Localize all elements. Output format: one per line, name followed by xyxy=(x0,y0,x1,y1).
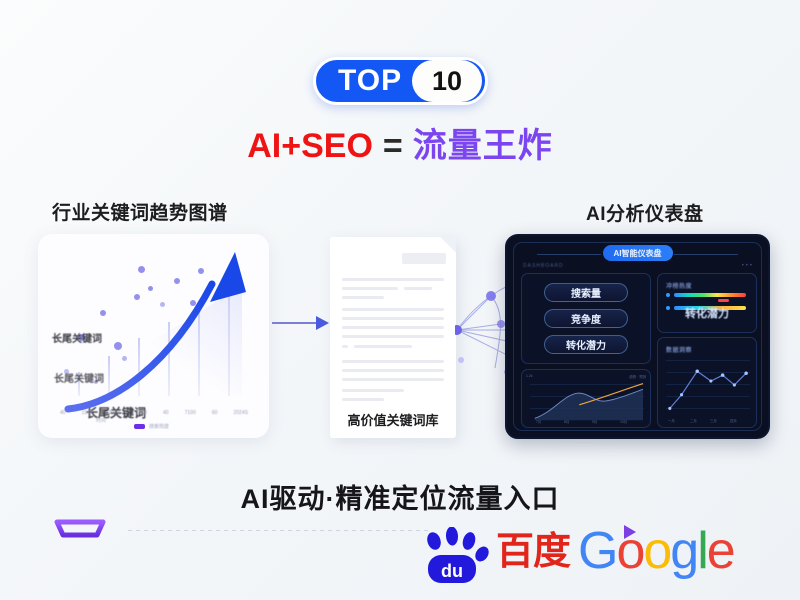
x-tick: 7100 xyxy=(185,410,196,416)
line-chart-svg xyxy=(658,338,756,427)
google-letter: G xyxy=(578,522,616,580)
chart-legend: 搜索热度 xyxy=(134,423,169,430)
divider-dashed-line xyxy=(128,530,428,531)
search-engine-logos: du 百度 Google xyxy=(418,519,748,581)
dashboard-title: AI智能仪表盘 xyxy=(603,245,673,261)
heat-panel-heading: 冲榜热度 xyxy=(666,281,692,290)
keyword-library-document: 高价值关键词库 xyxy=(330,237,456,438)
headline-left: AI+SEO xyxy=(247,127,373,165)
x-tick: 2014 xyxy=(109,410,120,416)
x-tick: 1140 xyxy=(82,410,93,416)
right-section-caption: AI分析仪表盘 xyxy=(586,199,704,226)
dashboard-menu-icon[interactable]: ••• xyxy=(742,263,754,269)
google-letter: l xyxy=(697,522,707,580)
x-tick: 40 xyxy=(60,410,66,416)
bottom-slogan: AI驱动·精准定位流量入口 xyxy=(0,477,800,516)
legend-swatch xyxy=(134,424,145,429)
google-letter: o xyxy=(643,522,670,580)
top-badge-number: 10 xyxy=(432,68,462,95)
heat-index-panel: 冲榜热度 转化潜力 xyxy=(657,273,757,333)
google-letter: e xyxy=(707,522,734,580)
dashboard-subtitle: DASHBOARD xyxy=(523,263,564,269)
x-tick: 1844 xyxy=(136,410,147,416)
metrics-panel: 搜索量 竞争度 转化潜力 xyxy=(521,273,651,364)
flow-arrow-icon xyxy=(272,314,330,332)
baidu-du-text: du xyxy=(441,561,463,581)
top-badge-circle: 10 xyxy=(412,60,482,102)
metric-pill-search-volume[interactable]: 搜索量 xyxy=(544,283,628,302)
headline-right: 流量王炸 xyxy=(413,127,553,165)
left-section-caption: 行业关键词趋势图谱 xyxy=(52,198,228,225)
baidu-logo-text: 百度 xyxy=(496,533,570,571)
x-tick: 2024S xyxy=(233,410,247,416)
area-chart-panel: 1.2k 趋势 · 预测 7月 8月 9月 10月 xyxy=(521,369,651,428)
growth-arrow-icon xyxy=(60,244,260,419)
page-fold-icon xyxy=(440,237,456,253)
trend-x-axis: 40 1140 2014 1844 40 7100 60 2024S xyxy=(60,410,248,416)
line-chart-panel: 数据洞察 一月 二月 三月 四月 xyxy=(657,337,757,428)
legend-label: 搜索热度 xyxy=(149,423,169,430)
baidu-paw-icon: du xyxy=(418,527,498,587)
bar-chart-icon xyxy=(48,483,112,547)
x-tick: 60 xyxy=(212,410,218,416)
ai-dashboard: AI智能仪表盘 DASHBOARD ••• 搜索量 竞争度 转化潜力 1.2k … xyxy=(505,234,770,439)
google-letter: g xyxy=(670,522,697,580)
conversion-potential-text: 转化潜力 xyxy=(658,305,756,321)
headline-equals: = xyxy=(383,127,403,165)
trend-chart-card: 长尾关键词 长尾关键词 长尾关键词 40 1140 2014 1844 40 7… xyxy=(38,234,269,438)
doc-label: 高价值关键词库 xyxy=(330,410,456,429)
gradient-bar-rainbow xyxy=(674,293,746,297)
google-letter: o xyxy=(616,522,643,580)
page-title: AI+SEO=流量王炸 xyxy=(0,129,800,163)
top-rank-badge: TOP 10 xyxy=(313,57,488,105)
x-axis-label: 时间 xyxy=(96,417,106,424)
metric-pill-conversion[interactable]: 转化潜力 xyxy=(544,335,628,354)
slide-canvas: TOP 10 AI+SEO=流量王炸 行业关键词趋势图谱 AI分析仪表盘 xyxy=(0,0,800,600)
metric-pill-competition[interactable]: 竞争度 xyxy=(544,309,628,328)
google-logo: Google xyxy=(578,525,734,577)
top-badge-label: TOP xyxy=(338,66,402,96)
x-tick: 40 xyxy=(163,410,169,416)
doc-header-block xyxy=(402,253,446,264)
